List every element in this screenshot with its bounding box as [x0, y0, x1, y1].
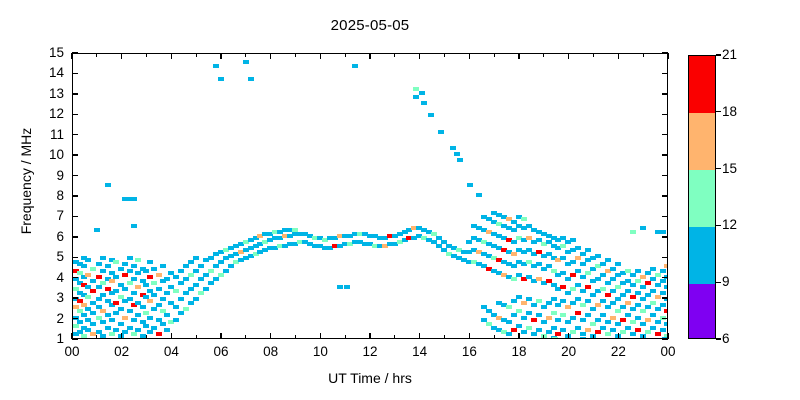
page-title: 2025-05-05 — [0, 17, 740, 34]
data-point — [560, 244, 566, 248]
data-point — [109, 332, 115, 336]
data-point — [600, 299, 606, 303]
x-tick — [568, 333, 569, 339]
data-point — [551, 297, 557, 301]
y-tick-label: 6 — [38, 230, 64, 243]
data-point — [183, 307, 189, 311]
x-tick-minor — [444, 335, 445, 339]
data-point — [193, 297, 199, 301]
data-point — [173, 289, 179, 293]
data-point — [536, 299, 542, 303]
data-point — [590, 293, 596, 297]
x-tick-minor — [394, 335, 395, 339]
x-tick — [469, 333, 470, 339]
y-tick — [72, 93, 78, 94]
data-point — [183, 264, 189, 268]
data-point — [640, 309, 646, 313]
data-point — [565, 305, 571, 309]
data-point — [605, 320, 611, 324]
data-point — [630, 295, 636, 299]
data-point — [645, 318, 651, 322]
data-point — [344, 285, 350, 289]
data-point — [536, 313, 542, 317]
data-point — [178, 281, 184, 285]
colorbar-tick-label: 12 — [722, 217, 737, 232]
data-point — [575, 297, 581, 301]
data-point — [575, 246, 581, 250]
data-point — [575, 311, 581, 315]
data-point — [164, 313, 170, 317]
data-point — [645, 271, 651, 275]
y-tick-right — [662, 277, 668, 278]
data-point — [555, 318, 561, 322]
data-point — [147, 316, 153, 320]
colorbar-tick — [716, 168, 721, 169]
data-points-layer — [73, 54, 667, 338]
data-point — [164, 277, 170, 281]
data-point — [620, 293, 626, 297]
data-point — [555, 303, 561, 307]
x-tick-minor-top — [245, 53, 246, 57]
colorbar-band — [689, 56, 715, 113]
data-point — [516, 324, 522, 328]
x-tick-label: 04 — [155, 344, 187, 359]
data-point — [521, 217, 527, 221]
data-point — [131, 332, 137, 336]
y-tick-right — [662, 236, 668, 237]
x-tick-minor-top — [394, 53, 395, 57]
data-point — [147, 299, 153, 303]
data-point — [560, 328, 566, 332]
x-tick-top — [320, 53, 321, 59]
data-point — [127, 309, 133, 313]
data-point — [100, 281, 106, 285]
data-point — [600, 273, 606, 277]
y-tick-right — [662, 154, 668, 155]
data-point — [590, 322, 596, 326]
data-point — [248, 77, 254, 81]
data-point — [135, 258, 141, 262]
data-point — [77, 320, 83, 324]
data-point — [413, 95, 419, 99]
data-point — [650, 313, 656, 317]
data-point — [131, 197, 137, 201]
data-point — [650, 289, 656, 293]
x-tick-minor — [295, 335, 296, 339]
data-point — [96, 275, 102, 279]
x-tick-minor-top — [196, 53, 197, 57]
data-point — [575, 269, 581, 273]
data-point — [143, 283, 149, 287]
data-point — [521, 316, 527, 320]
data-point — [605, 332, 611, 336]
y-tick-label: 7 — [38, 209, 64, 222]
data-point — [640, 297, 646, 301]
data-point — [552, 337, 558, 339]
x-tick — [270, 333, 271, 339]
data-point — [122, 330, 128, 334]
data-point — [610, 328, 616, 332]
data-point — [625, 301, 631, 305]
data-point — [96, 285, 102, 289]
data-point — [650, 301, 656, 305]
y-tick — [72, 114, 78, 115]
data-point — [511, 240, 517, 244]
x-tick-minor-top — [345, 53, 346, 57]
y-tick-label: 5 — [38, 250, 64, 263]
data-point — [140, 334, 146, 338]
x-tick — [220, 333, 221, 339]
data-point — [100, 293, 106, 297]
data-point — [160, 322, 166, 326]
data-point — [90, 332, 96, 336]
data-point — [113, 260, 119, 264]
y-tick — [72, 175, 78, 176]
data-point — [198, 291, 204, 295]
data-point — [660, 279, 666, 283]
data-point — [113, 301, 119, 305]
colorbar-tick-label: 18 — [722, 104, 737, 119]
data-point — [615, 285, 621, 289]
data-point — [90, 267, 96, 271]
x-tick-minor-top — [494, 53, 495, 57]
x-tick-minor-top — [593, 53, 594, 57]
y-tick-right — [662, 195, 668, 196]
colorbar-band — [689, 283, 715, 339]
data-point — [630, 307, 636, 311]
data-point — [595, 318, 601, 322]
data-point — [565, 277, 571, 281]
data-point — [595, 303, 601, 307]
data-point — [570, 238, 576, 242]
data-point — [198, 264, 204, 268]
data-point — [476, 193, 482, 197]
data-point — [664, 322, 668, 326]
data-point — [655, 332, 661, 336]
data-point — [506, 320, 512, 324]
data-point — [183, 291, 189, 295]
x-tick-top — [220, 53, 221, 59]
x-tick — [667, 333, 668, 339]
data-point — [615, 309, 621, 313]
data-point — [655, 295, 661, 299]
y-tick-right — [662, 93, 668, 94]
data-point — [85, 295, 91, 299]
data-point — [640, 226, 646, 230]
data-point — [73, 324, 79, 328]
data-point — [650, 267, 656, 271]
x-tick-label: 14 — [404, 344, 436, 359]
data-point — [511, 252, 517, 256]
data-point — [118, 307, 124, 311]
data-point — [570, 330, 576, 334]
x-tick-minor-top — [96, 53, 97, 57]
x-tick-top — [419, 53, 420, 59]
data-point — [164, 328, 170, 332]
data-point — [585, 328, 591, 332]
data-point — [630, 230, 636, 234]
y-tick-right — [662, 257, 668, 258]
x-tick-label: 12 — [354, 344, 386, 359]
data-point — [541, 320, 547, 324]
data-point — [526, 311, 532, 315]
y-tick-label: 10 — [38, 148, 64, 161]
data-point — [352, 64, 358, 68]
data-point — [467, 183, 473, 187]
data-point — [600, 313, 606, 317]
data-point — [151, 293, 157, 297]
data-point — [555, 332, 561, 336]
data-point — [664, 309, 668, 313]
data-point — [113, 275, 119, 279]
data-point — [660, 230, 666, 234]
data-point — [90, 322, 96, 326]
x-tick — [71, 333, 72, 339]
data-point — [600, 326, 606, 330]
data-point — [580, 318, 586, 322]
colorbar-tick-label: 9 — [722, 274, 730, 289]
data-point — [140, 305, 146, 309]
data-point — [590, 307, 596, 311]
data-point — [640, 275, 646, 279]
x-tick — [320, 333, 321, 339]
data-point — [127, 256, 133, 260]
x-tick-label: 02 — [106, 344, 138, 359]
x-tick — [121, 333, 122, 339]
data-point — [178, 269, 184, 273]
data-point — [151, 326, 157, 330]
ionogram-figure: 2025-05-05 Frequency / MHz UT Time / hrs… — [0, 0, 800, 400]
y-tick — [72, 134, 78, 135]
data-point — [208, 269, 214, 273]
y-tick — [72, 236, 78, 237]
x-tick-label: 10 — [304, 344, 336, 359]
data-point — [100, 334, 106, 338]
data-point — [218, 260, 224, 264]
data-point — [454, 152, 460, 156]
x-tick-minor — [146, 335, 147, 339]
data-point — [595, 330, 601, 334]
plot-area — [72, 53, 668, 339]
y-tick — [72, 154, 78, 155]
data-point — [610, 267, 616, 271]
data-point — [645, 293, 651, 297]
data-point — [213, 277, 219, 281]
x-tick-minor — [245, 335, 246, 339]
data-point — [625, 289, 631, 293]
x-tick-minor — [543, 335, 544, 339]
data-point — [131, 291, 137, 295]
data-point — [625, 326, 631, 330]
data-point — [96, 297, 102, 301]
data-point — [127, 269, 133, 273]
x-tick-top — [469, 53, 470, 59]
data-point — [645, 281, 651, 285]
y-tick — [72, 257, 78, 258]
data-point — [183, 277, 189, 281]
data-point — [450, 146, 456, 150]
y-tick-label: 13 — [38, 87, 64, 100]
data-point — [90, 301, 96, 305]
data-point — [570, 273, 576, 277]
y-tick-label: 4 — [38, 271, 64, 284]
data-point — [156, 303, 162, 307]
data-point — [511, 264, 517, 268]
data-point — [173, 318, 179, 322]
data-point — [630, 283, 636, 287]
x-tick-minor — [96, 335, 97, 339]
data-point — [580, 337, 586, 339]
data-point — [655, 273, 661, 277]
data-point — [203, 273, 209, 277]
data-point — [615, 262, 621, 266]
x-tick-label: 06 — [205, 344, 237, 359]
data-point — [560, 299, 566, 303]
data-point — [511, 328, 517, 332]
data-point — [585, 285, 591, 289]
x-tick-minor — [494, 335, 495, 339]
x-tick-minor — [345, 335, 346, 339]
x-tick-label: 18 — [503, 344, 535, 359]
x-tick-label: 00 — [56, 344, 88, 359]
x-tick-minor — [643, 335, 644, 339]
data-point — [580, 252, 586, 256]
data-point — [243, 60, 249, 64]
data-point — [635, 328, 641, 332]
x-axis-title: UT Time / hrs — [72, 370, 668, 386]
y-tick-label: 15 — [38, 46, 64, 59]
x-tick-minor — [593, 335, 594, 339]
data-point — [630, 332, 636, 336]
data-point — [546, 301, 552, 305]
x-tick-top — [71, 53, 72, 59]
data-point — [203, 287, 209, 291]
data-point — [610, 289, 616, 293]
data-point — [551, 311, 557, 315]
colorbar-tick — [716, 111, 721, 112]
data-point — [147, 330, 153, 334]
data-point — [660, 328, 666, 332]
y-axis-title: Frequency / MHz — [18, 106, 34, 256]
data-point — [127, 297, 133, 301]
data-point — [640, 285, 646, 289]
colorbar-band — [689, 113, 715, 170]
data-point — [105, 326, 111, 330]
x-tick-minor-top — [543, 53, 544, 57]
data-point — [650, 326, 656, 330]
x-tick-top — [171, 53, 172, 59]
data-point — [135, 313, 141, 317]
data-point — [143, 269, 149, 273]
y-tick — [72, 318, 78, 319]
data-point — [526, 326, 532, 330]
data-point — [131, 277, 137, 281]
data-point — [565, 291, 571, 295]
data-point — [90, 289, 96, 293]
x-tick-top — [121, 53, 122, 59]
data-point — [337, 285, 343, 289]
data-point — [600, 287, 606, 291]
data-point — [640, 322, 646, 326]
data-point — [511, 277, 517, 281]
data-point — [610, 301, 616, 305]
data-point — [151, 267, 157, 271]
y-tick-right — [662, 318, 668, 319]
data-point — [655, 283, 661, 287]
x-tick-top — [618, 53, 619, 59]
data-point — [570, 287, 576, 291]
data-point — [122, 262, 128, 266]
data-point — [565, 320, 571, 324]
data-point — [660, 303, 666, 307]
data-point — [615, 322, 621, 326]
data-point — [147, 260, 153, 264]
data-point — [506, 305, 512, 309]
data-point — [635, 303, 641, 307]
data-point — [218, 77, 224, 81]
data-point — [531, 332, 537, 336]
x-tick-label: 16 — [453, 344, 485, 359]
data-point — [560, 271, 566, 275]
data-point — [560, 285, 566, 289]
data-point — [127, 281, 133, 285]
data-point — [595, 277, 601, 281]
data-point — [526, 297, 532, 301]
data-point — [160, 264, 166, 268]
data-point — [605, 281, 611, 285]
data-point — [635, 291, 641, 295]
data-point — [630, 320, 636, 324]
data-point — [421, 101, 427, 105]
data-point — [466, 240, 472, 244]
y-tick-right — [662, 297, 668, 298]
y-tick-label: 8 — [38, 189, 64, 202]
data-point — [193, 256, 199, 260]
data-point — [85, 258, 91, 262]
data-point — [81, 334, 87, 338]
x-tick-minor — [196, 335, 197, 339]
data-point — [428, 113, 434, 117]
y-tick-label: 12 — [38, 107, 64, 120]
data-point — [131, 224, 137, 228]
x-tick — [171, 333, 172, 339]
data-point — [178, 311, 184, 315]
y-tick-label: 3 — [38, 291, 64, 304]
colorbar-tick-label: 15 — [722, 161, 737, 176]
x-tick-top — [369, 53, 370, 59]
x-tick-top — [518, 53, 519, 59]
y-tick-right — [662, 73, 668, 74]
x-tick-minor-top — [444, 53, 445, 57]
data-point — [96, 262, 102, 266]
data-point — [173, 305, 179, 309]
data-point — [655, 307, 661, 311]
data-point — [575, 326, 581, 330]
data-point — [511, 299, 517, 303]
data-point — [541, 305, 547, 309]
data-point — [605, 258, 611, 262]
y-tick-right — [662, 134, 668, 135]
data-point — [531, 318, 537, 322]
data-point — [531, 303, 537, 307]
colorbar-band — [689, 170, 715, 227]
data-point — [208, 256, 214, 260]
data-point — [585, 299, 591, 303]
data-point — [228, 264, 234, 268]
data-point — [208, 281, 214, 285]
data-point — [143, 324, 149, 328]
y-tick-right — [662, 114, 668, 115]
